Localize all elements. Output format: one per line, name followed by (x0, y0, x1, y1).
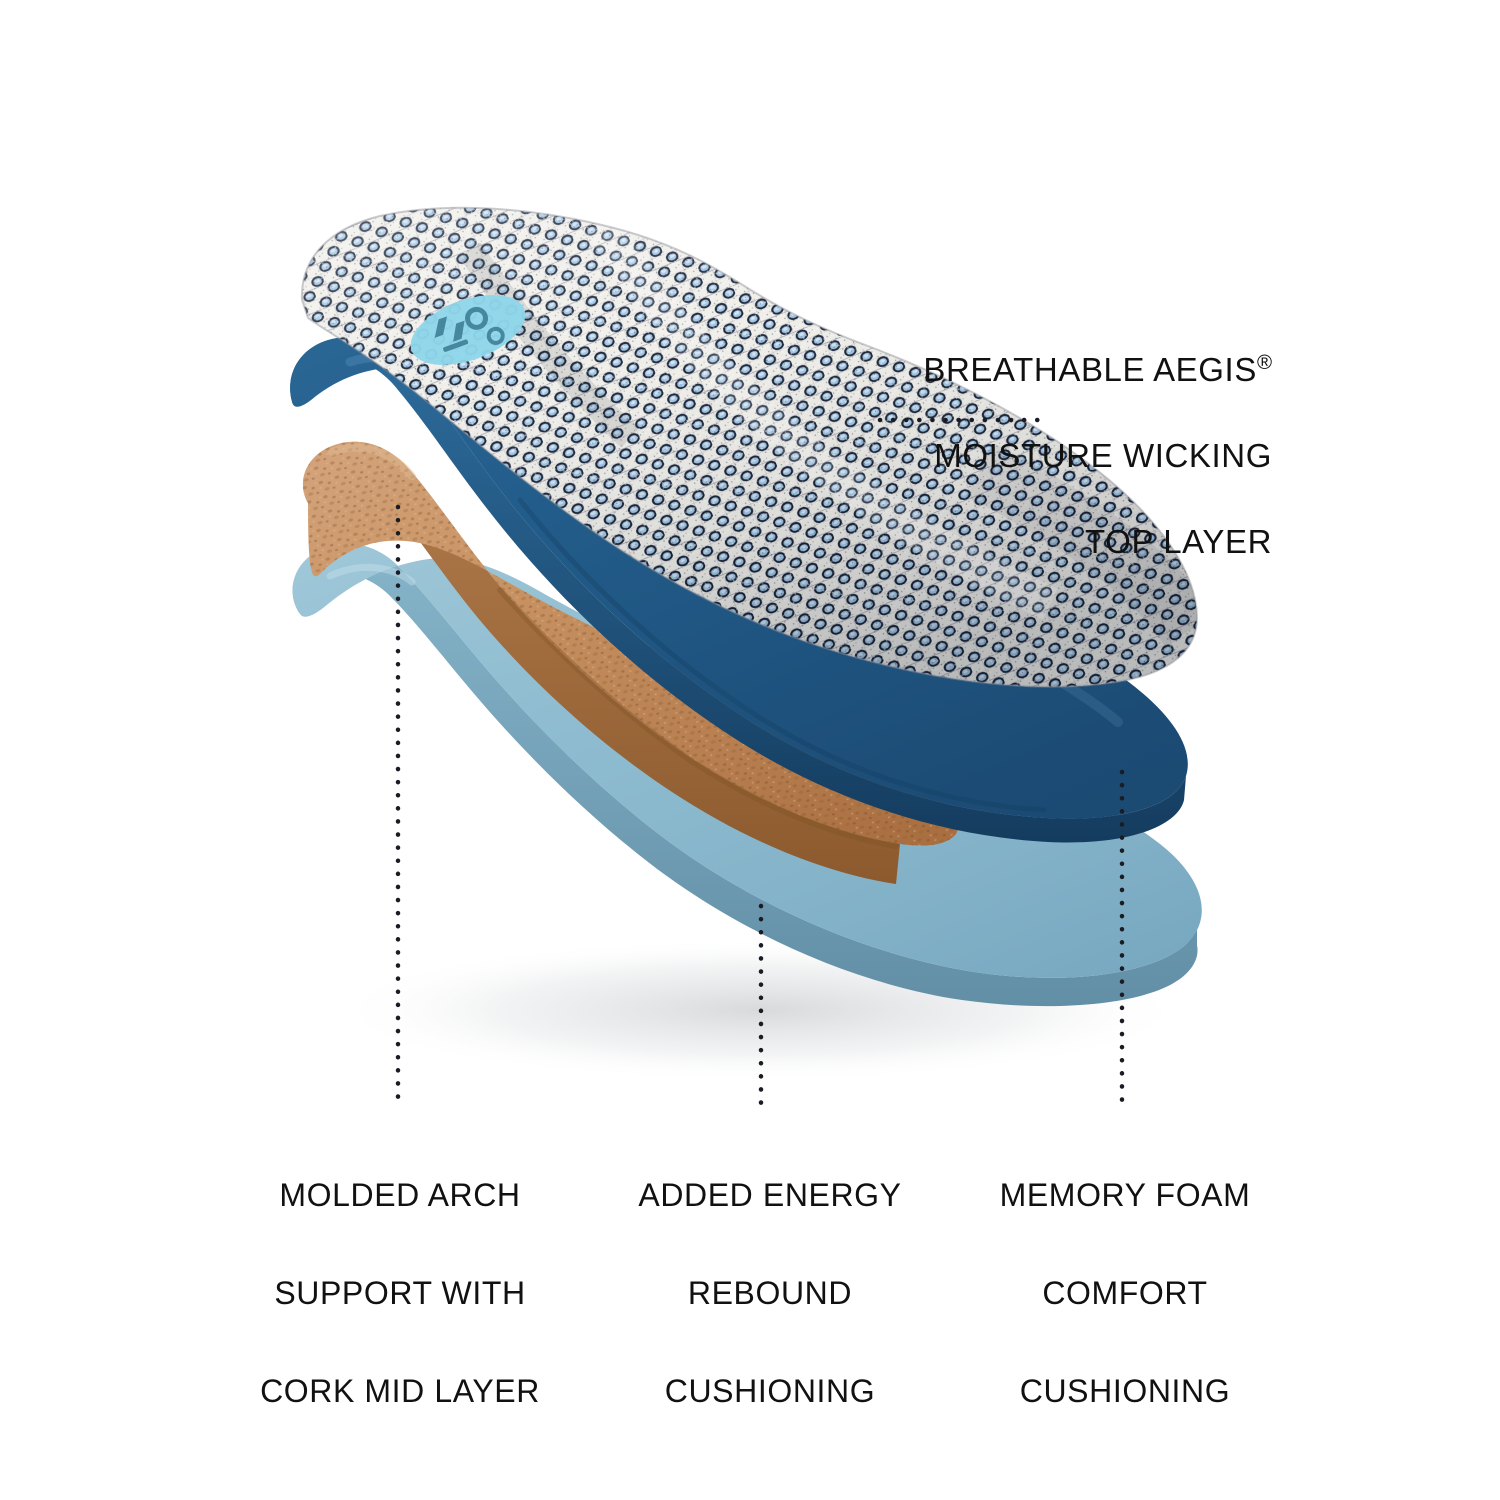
callout-line-3: CUSHIONING (580, 1367, 960, 1416)
callout-line-1: BREATHABLE AEGIS® (752, 341, 1272, 391)
callout-breathable-aegis: BREATHABLE AEGIS® MOISTURE WICKING TOP L… (752, 298, 1272, 606)
insole-layers-diagram: BREATHABLE AEGIS® MOISTURE WICKING TOP L… (0, 0, 1500, 1500)
callout-line-2: SUPPORT WITH (200, 1269, 600, 1318)
callout-added-energy-rebound: ADDED ENERGY REBOUND CUSHIONING (580, 1122, 960, 1465)
callout-line-1: MOLDED ARCH (200, 1171, 600, 1220)
callout-line-3: TOP LAYER (752, 520, 1272, 563)
callout-line-2: MOISTURE WICKING (752, 434, 1272, 477)
registered-trademark-icon: ® (1257, 351, 1272, 374)
callout-line-3: CUSHIONING (940, 1367, 1310, 1416)
callout-line-3: CORK MID LAYER (200, 1367, 600, 1416)
callout-molded-arch-support: MOLDED ARCH SUPPORT WITH CORK MID LAYER (200, 1122, 600, 1465)
callout-memory-foam-comfort: MEMORY FOAM COMFORT CUSHIONING (940, 1122, 1310, 1465)
callout-line-1: MEMORY FOAM (940, 1171, 1310, 1220)
callout-line-2: REBOUND (580, 1269, 960, 1318)
callout-line-1: ADDED ENERGY (580, 1171, 960, 1220)
callout-line-2: COMFORT (940, 1269, 1310, 1318)
